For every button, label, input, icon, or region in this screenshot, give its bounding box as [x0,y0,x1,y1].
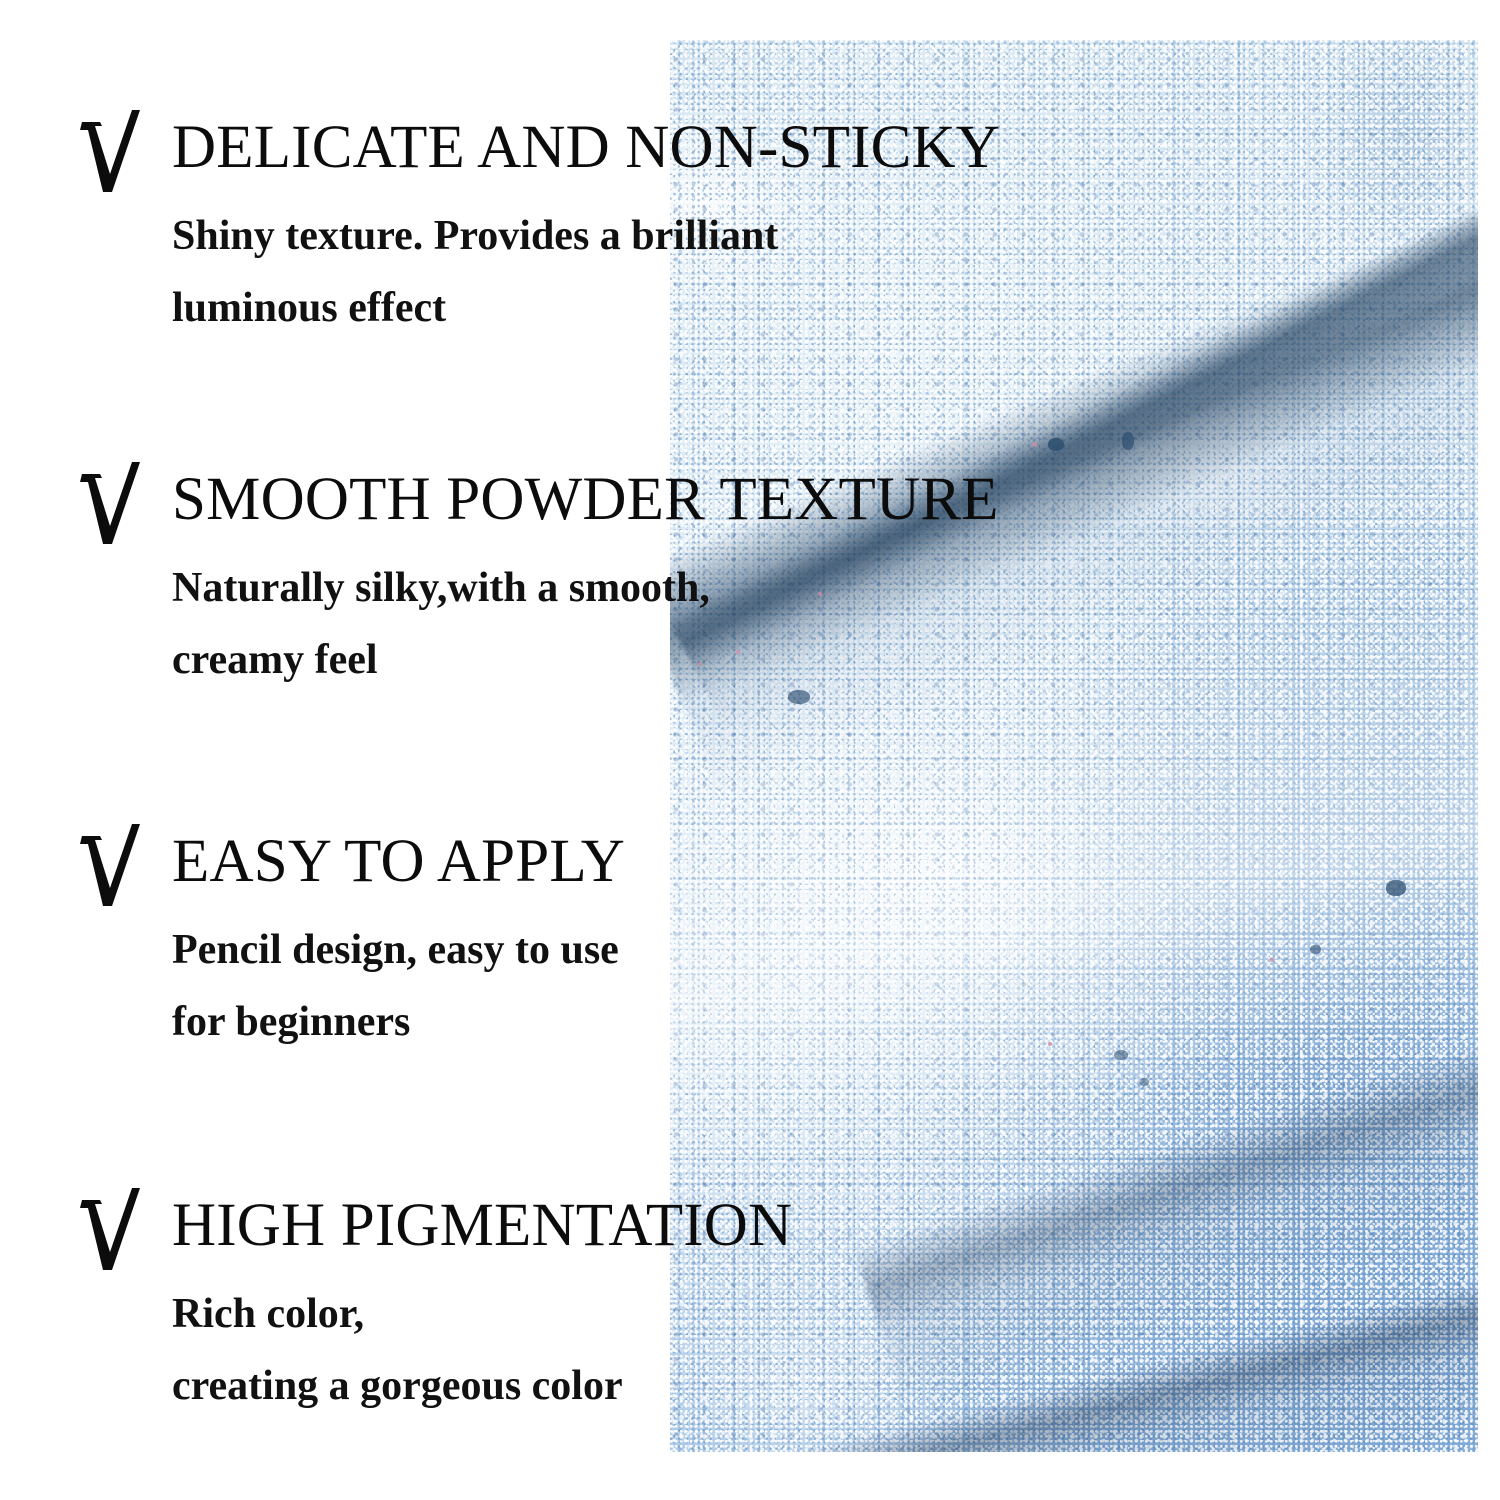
feature-description-line: Naturally silky,with a smooth, [172,552,710,624]
feature-description-line: luminous effect [172,272,778,344]
swatch-dark-speck [1310,945,1321,954]
square-root-check-icon [78,108,142,194]
square-root-check-icon [78,822,142,908]
swatch-pink-fleck [1270,958,1274,962]
feature-heading-row: HIGH PIGMENTATION [0,1186,1020,1272]
feature-block-2: SMOOTH POWDER TEXTURE Naturally silky,wi… [0,460,1020,546]
feature-description-line: Pencil design, easy to use [172,914,619,986]
feature-description: Shiny texture. Provides a brilliant lumi… [172,200,778,344]
feature-title: HIGH PIGMENTATION [172,1190,792,1262]
swatch-pink-fleck [1032,442,1037,447]
swatch-dark-speck [1048,438,1064,451]
feature-description-line: creating a gorgeous color [172,1350,623,1422]
swatch-pink-fleck [736,650,740,654]
infographic-canvas: DELICATE AND NON-STICKY Shiny texture. P… [0,0,1500,1500]
feature-title: EASY TO APPLY [172,826,625,898]
feature-description-line: for beginners [172,986,619,1058]
feature-block-3: EASY TO APPLY Pencil design, easy to use… [0,822,1020,908]
feature-heading-row: SMOOTH POWDER TEXTURE [0,460,1020,546]
feature-heading-row: EASY TO APPLY [0,822,1020,908]
square-root-check-icon [78,1186,142,1272]
feature-block-1: DELICATE AND NON-STICKY Shiny texture. P… [0,108,1020,194]
feature-description-line: Rich color, [172,1278,623,1350]
feature-description-line: creamy feel [172,624,710,696]
feature-description: Pencil design, easy to use for beginners [172,914,619,1058]
feature-title: DELICATE AND NON-STICKY [172,112,1000,184]
swatch-pink-fleck [818,592,822,596]
swatch-dark-speck [788,690,810,704]
feature-heading-row: DELICATE AND NON-STICKY [0,108,1020,194]
swatch-dark-speck [1122,432,1134,450]
feature-description-line: Shiny texture. Provides a brilliant [172,200,778,272]
square-root-check-icon [78,460,142,546]
swatch-pink-fleck [1048,1042,1052,1046]
feature-block-4: HIGH PIGMENTATION Rich color, creating a… [0,1186,1020,1272]
feature-description: Rich color, creating a gorgeous color [172,1278,623,1422]
swatch-dark-speck [1140,1078,1149,1086]
swatch-dark-speck [1386,880,1406,896]
swatch-dark-speck [1114,1050,1128,1060]
feature-title: SMOOTH POWDER TEXTURE [172,464,999,536]
feature-description: Naturally silky,with a smooth, creamy fe… [172,552,710,696]
